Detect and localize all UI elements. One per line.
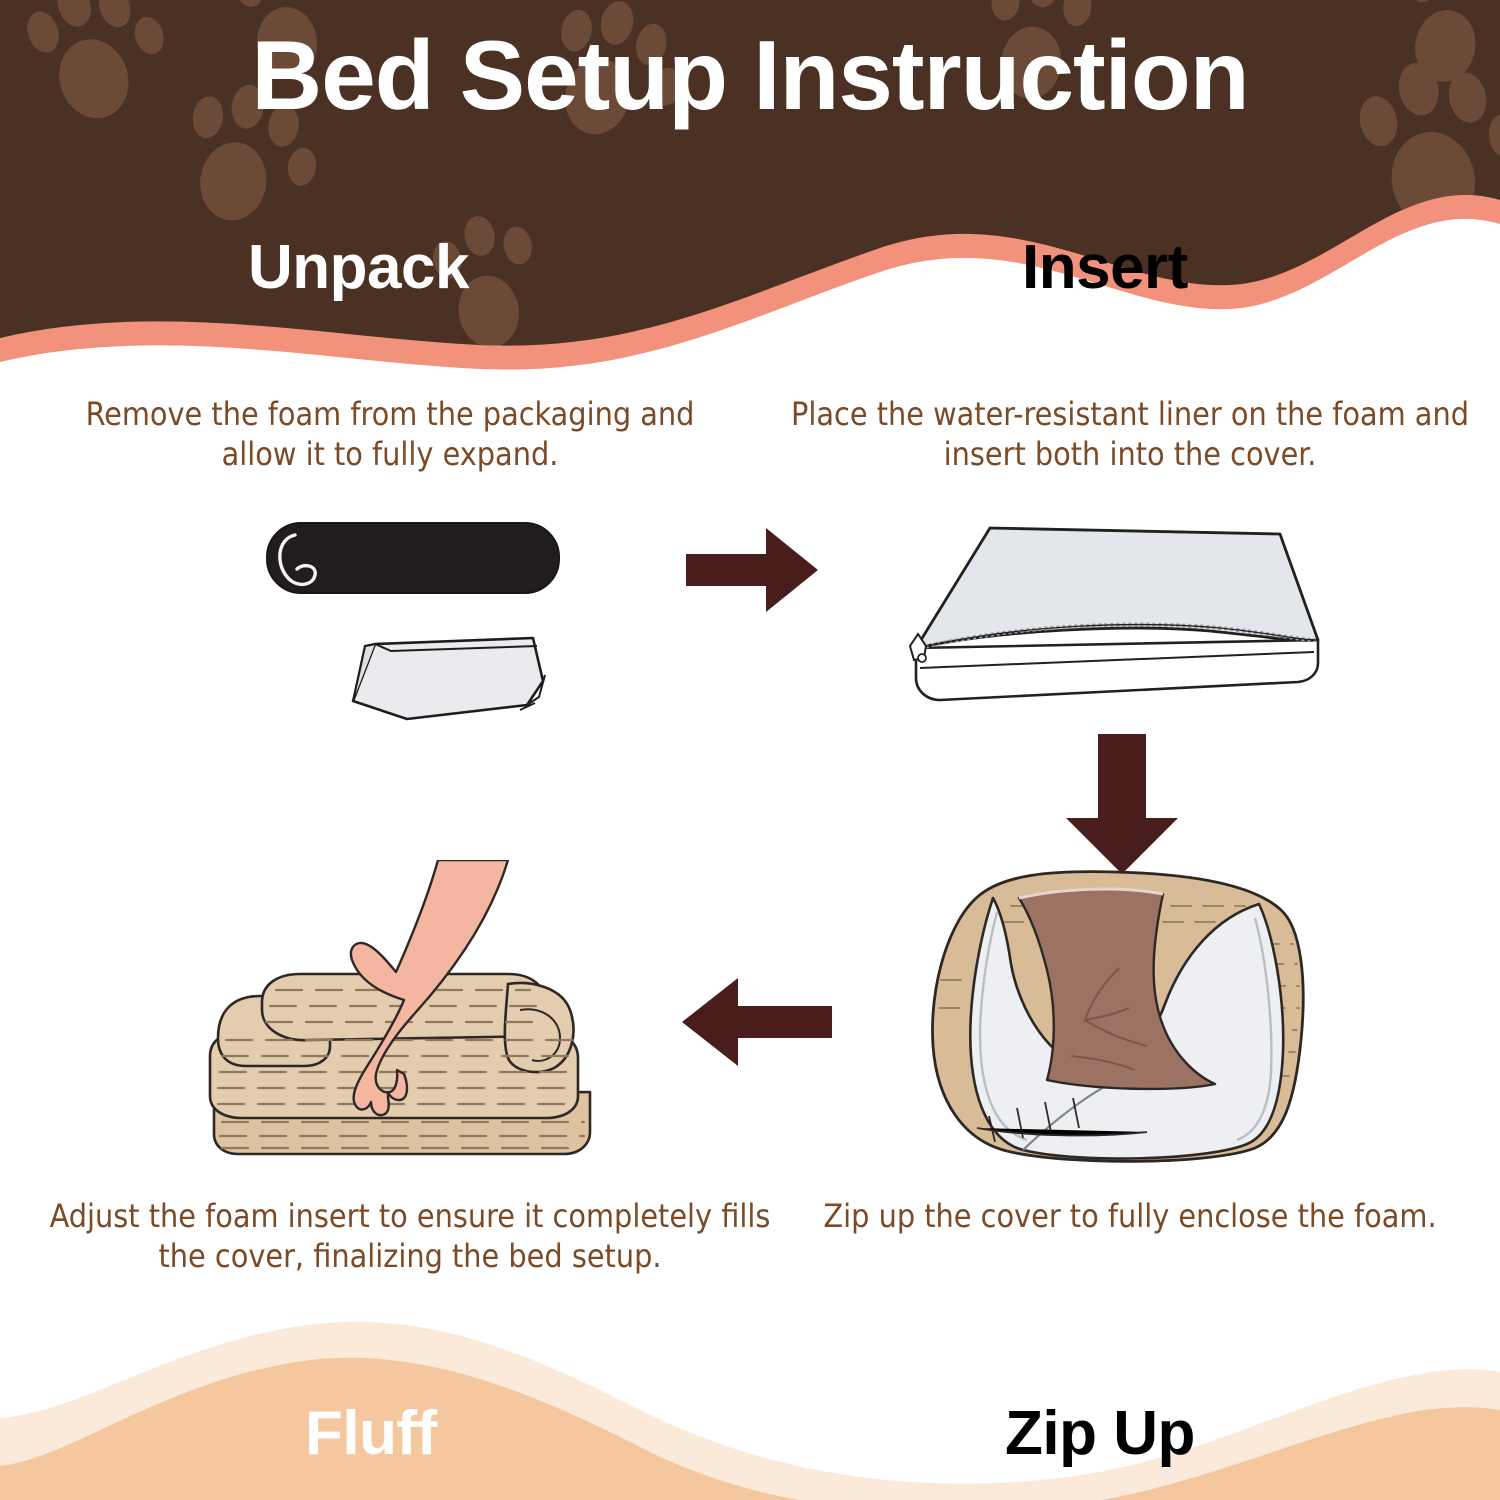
caption-insert: Place the water-resistant liner on the f… <box>790 394 1470 474</box>
caption-zipup: Zip up the cover to fully enclose the fo… <box>810 1196 1450 1236</box>
step-tag-insert: Insert <box>1022 232 1188 303</box>
illustration-liner-on-foam <box>880 500 1330 730</box>
folded-liner-icon <box>353 638 545 719</box>
step-tag-fluff: Fluff <box>305 1398 437 1469</box>
page-title: Bed Setup Instruction <box>0 24 1500 127</box>
rolled-foam-icon <box>267 523 559 593</box>
caption-unpack: Remove the foam from the packaging and a… <box>55 394 725 474</box>
instruction-graphic: Bed Setup Instruction Unpack Insert Remo… <box>0 0 1500 1500</box>
step-tag-zipup: Zip Up <box>1005 1398 1195 1469</box>
footer-wave-graphic <box>0 1300 1500 1500</box>
arrow-down-icon <box>1058 730 1186 878</box>
foam-with-liner-icon <box>910 528 1318 700</box>
caption-fluff: Adjust the foam insert to ensure it comp… <box>45 1196 775 1276</box>
header-band: Bed Setup Instruction <box>0 0 1500 380</box>
footer-band <box>0 1300 1500 1500</box>
illustration-open-cover <box>915 860 1335 1180</box>
arrow-right-icon <box>682 522 822 618</box>
illustration-rolled-foam-and-liner <box>255 505 625 745</box>
step-tag-unpack: Unpack <box>248 232 469 303</box>
arrow-left-icon <box>676 970 836 1074</box>
bolster-bed-icon <box>210 860 590 1154</box>
open-cover-icon <box>932 872 1303 1162</box>
illustration-hand-pressing-bed <box>190 860 630 1180</box>
